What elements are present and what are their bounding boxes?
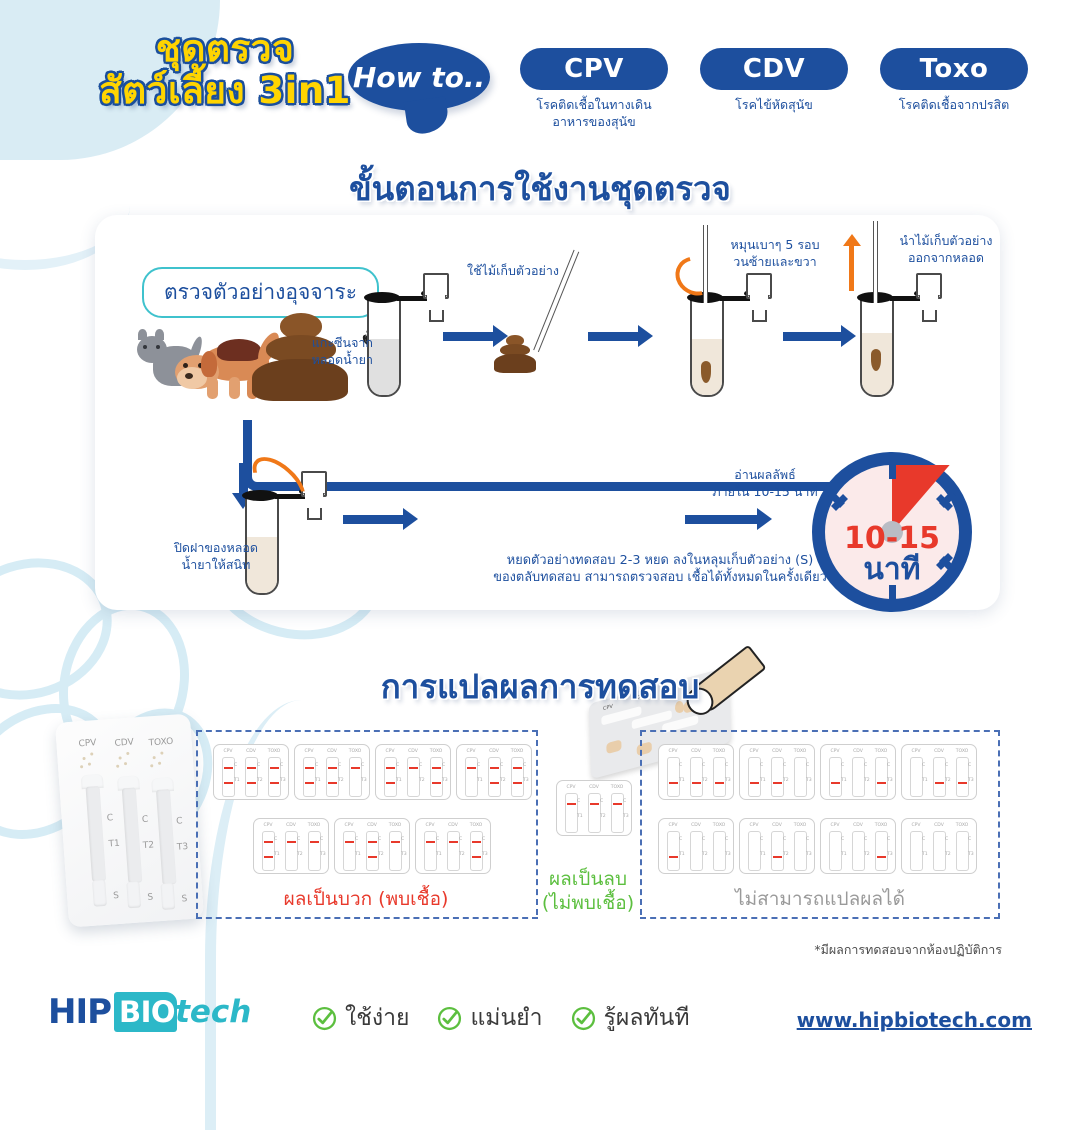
card-control-label: C — [679, 763, 682, 768]
card-control-label: C — [338, 763, 341, 768]
logo-hip-text: HIP — [48, 992, 111, 1032]
card-test-label: T1 — [396, 778, 402, 783]
logo-tech-text: tech — [175, 994, 251, 1030]
badge-cpv: CPV โรคติดเชื้อในทางเดิน อาหารของสุนัข — [520, 48, 668, 130]
feature-item: รู้ผลทันที — [571, 1000, 690, 1036]
card-channel-label: TOXO — [345, 749, 365, 754]
test-band — [715, 782, 724, 784]
test-band — [305, 782, 314, 784]
negative-label: ผลเป็นลบ (ไม่พบเชื้อ) — [540, 868, 636, 916]
control-band — [426, 841, 435, 843]
badge-toxo-desc: โรคติดเชื้อจากปรสิต — [880, 97, 1028, 114]
card-channel-label: CPV — [663, 823, 683, 828]
card-test-label: T2 — [257, 778, 263, 783]
card-channel-label: TOXO — [709, 749, 729, 754]
cassette-c-label: C — [176, 816, 183, 826]
card-test-label: T3 — [968, 778, 974, 783]
card-control-label: C — [725, 763, 728, 768]
cassette-label-cpv: CPV — [78, 738, 97, 749]
cassette-window-cdv — [122, 787, 143, 883]
badge-cpv-desc: โรคติดเชื้อในทางเดิน อาหารของสุนัข — [520, 97, 668, 130]
card-control-label: C — [679, 837, 682, 842]
card-control-label: C — [419, 763, 422, 768]
card-control-label: C — [280, 763, 283, 768]
control-band — [467, 767, 476, 769]
step7-label: อ่านผลลัพธ์ ภายใน 10-15 นาที — [695, 467, 835, 501]
card-control-label: C — [442, 763, 445, 768]
cassette-sample-well-cdv — [126, 881, 141, 908]
pull-up-arrow-icon — [849, 245, 854, 291]
flow-arrow-1 — [443, 332, 495, 341]
card-channel-label: CDV — [686, 823, 706, 828]
card-control-label: C — [523, 763, 526, 768]
card-channel-label: TOXO — [385, 823, 405, 828]
card-control-label: C — [806, 837, 809, 842]
cassette-c-label: C — [106, 813, 113, 823]
card-channel-label: CPV — [258, 823, 278, 828]
card-channel-label: CDV — [686, 749, 706, 754]
card-channel-label: CDV — [403, 749, 423, 754]
card-test-label: T1 — [922, 778, 928, 783]
cassette-t2-label: T2 — [142, 840, 154, 851]
card-control-label: C — [841, 763, 844, 768]
card-channel-label: TOXO — [871, 823, 891, 828]
control-band — [247, 767, 256, 769]
negative-label-line1: ผลเป็นลบ — [540, 868, 636, 892]
test-band — [877, 856, 886, 858]
control-band — [270, 767, 279, 769]
clock-minutes-unit: นาที — [812, 555, 972, 586]
control-band — [590, 803, 599, 805]
card-channel-label: TOXO — [952, 823, 972, 828]
badge-toxo: Toxo โรคติดเชื้อจากปรสิต — [880, 48, 1028, 130]
card-test-label: T1 — [234, 778, 240, 783]
title-line-2: สัตว์เลี้ยง 3in1 — [60, 70, 390, 112]
card-test-label: T1 — [577, 814, 583, 819]
swab-tip — [871, 349, 881, 371]
test-band — [750, 782, 759, 784]
card-channel-label: CPV — [420, 823, 440, 828]
badge-toxo-pill: Toxo — [880, 48, 1028, 90]
card-channel-label: CDV — [584, 785, 604, 790]
test-band — [773, 856, 782, 858]
invalid-result-card: CPVCT1CDVCT2TOXOCT3 — [820, 818, 896, 874]
card-control-label: C — [378, 837, 381, 842]
card-channel-label: TOXO — [790, 749, 810, 754]
card-test-label: T1 — [841, 852, 847, 857]
card-test-label: T2 — [945, 852, 951, 857]
test-band — [270, 782, 279, 784]
control-band — [409, 767, 418, 769]
step4-label: นำไม้เก็บตัวอย่าง ออกจากหลอด — [885, 233, 1007, 267]
card-control-label: C — [702, 763, 705, 768]
logo-bio-text: BIO — [114, 992, 177, 1032]
card-control-label: C — [841, 837, 844, 842]
test-band — [692, 782, 701, 784]
steps-heading: ขั้นตอนการใช้งานชุดตรวจ — [0, 162, 1080, 215]
control-band — [472, 841, 481, 843]
swab-tip — [701, 361, 711, 383]
card-test-label: T1 — [355, 852, 361, 857]
card-channel-label: CPV — [906, 749, 926, 754]
check-circle-icon — [571, 1006, 596, 1031]
card-channel-label: CDV — [443, 823, 463, 828]
card-channel-label: TOXO — [607, 785, 627, 790]
invalid-result-card: CPVCT1CDVCT2TOXOCT3 — [739, 744, 815, 800]
cassette-t3-label: T3 — [177, 842, 189, 853]
control-band — [391, 841, 400, 843]
tube-nozzle — [918, 295, 940, 311]
card-channel-label: CPV — [744, 823, 764, 828]
invalid-result-card: CPVCT1CDVCT2TOXOCT3 — [739, 818, 815, 874]
test-band — [773, 782, 782, 784]
control-band — [224, 767, 233, 769]
tube-nozzle — [425, 295, 447, 311]
stool-illustration-small — [493, 335, 537, 375]
card-test-label: T2 — [864, 852, 870, 857]
card-test-label: T1 — [841, 778, 847, 783]
negative-result-card: CPVCT1CDVCT2TOXOCT3 — [556, 780, 632, 836]
card-channel-label: CDV — [362, 823, 382, 828]
card-test-label: T1 — [922, 852, 928, 857]
test-band — [669, 856, 678, 858]
card-channel-label: CDV — [767, 823, 787, 828]
card-control-label: C — [783, 837, 786, 842]
card-control-label: C — [355, 837, 358, 842]
flow-arrow-3 — [783, 332, 843, 341]
card-control-label: C — [234, 763, 237, 768]
positive-label: ผลเป็นบวก (พบเชื้อ) — [226, 884, 506, 914]
step3-label: หมุนเบาๆ 5 รอบ วนซ้ายและขวา — [715, 237, 835, 271]
card-test-label: T3 — [725, 852, 731, 857]
positive-result-card: CPVCT1CDVCT2TOXOCT3 — [253, 818, 329, 874]
card-control-label: C — [864, 763, 867, 768]
card-test-label: T2 — [945, 778, 951, 783]
card-test-label: T1 — [274, 852, 280, 857]
card-test-label: T1 — [315, 778, 321, 783]
control-band — [310, 841, 319, 843]
test-band — [935, 782, 944, 784]
card-channel-label: TOXO — [709, 823, 729, 828]
card-test-label: T2 — [783, 778, 789, 783]
card-test-label: T2 — [783, 852, 789, 857]
card-channel-label: CPV — [825, 749, 845, 754]
tube-body — [690, 297, 724, 397]
card-test-label: T3 — [280, 778, 286, 783]
card-control-label: C — [922, 763, 925, 768]
card-channel-label: CPV — [906, 823, 926, 828]
card-test-label: T2 — [500, 778, 506, 783]
card-channel-label: CPV — [218, 749, 238, 754]
positive-result-card: CPVCT1CDVCT2TOXOCT3 — [415, 818, 491, 874]
clock-tick — [889, 585, 896, 601]
control-band — [432, 767, 441, 769]
card-control-label: C — [401, 837, 404, 842]
positive-result-card: CPVCT1CDVCT2TOXOCT3 — [456, 744, 532, 800]
step2-label: ใช้ไม้เก็บตัวอย่าง — [458, 263, 568, 280]
page-title: ชุดตรวจ สัตว์เลี้ยง 3in1 — [60, 28, 390, 112]
card-control-label: C — [623, 799, 626, 804]
test-band — [224, 782, 233, 784]
feature-list: ใช้ง่าย แม่นยำ รู้ผลทันที — [312, 1000, 690, 1036]
test-band — [264, 856, 273, 858]
swab-stick-step4 — [873, 221, 878, 303]
tube-collar — [364, 292, 400, 303]
card-test-label: T2 — [864, 778, 870, 783]
invalid-result-card: CPVCT1CDVCT2TOXOCT3 — [901, 818, 977, 874]
badge-cdv: CDV โรคไข้หัดสุนัข — [700, 48, 848, 130]
invalid-result-card: CPVCT1CDVCT2TOXOCT3 — [658, 818, 734, 874]
card-channel-label: CPV — [299, 749, 319, 754]
card-test-label: T3 — [320, 852, 326, 857]
card-control-label: C — [482, 837, 485, 842]
card-control-label: C — [396, 763, 399, 768]
invalid-result-card: CPVCT1CDVCT2TOXOCT3 — [658, 744, 734, 800]
control-band — [351, 767, 360, 769]
brand-logo: HIP BIO tech — [48, 992, 251, 1032]
card-control-label: C — [760, 763, 763, 768]
card-test-label: T3 — [887, 778, 893, 783]
negative-label-line2: (ไม่พบเชื้อ) — [540, 892, 636, 916]
region-divider — [536, 730, 538, 915]
card-channel-label: CDV — [484, 749, 504, 754]
card-channel-label: CDV — [241, 749, 261, 754]
card-channel-label: CPV — [380, 749, 400, 754]
card-test-label: T3 — [887, 852, 893, 857]
card-channel-label: CPV — [339, 823, 359, 828]
invalid-label: ไม่สามารถแปลผลได้ — [680, 884, 960, 914]
cassette-s-label: S — [147, 893, 153, 903]
card-test-label: T3 — [806, 778, 812, 783]
card-channel-label: CDV — [767, 749, 787, 754]
card-control-label: C — [315, 763, 318, 768]
card-channel-label: TOXO — [790, 823, 810, 828]
region-divider — [640, 730, 642, 915]
tube-nozzle-tip — [922, 310, 937, 322]
positive-result-card: CPVCT1CDVCT2TOXOCT3 — [294, 744, 370, 800]
control-band — [368, 841, 377, 843]
interpretation-heading: การแปลผลการทดสอบ — [0, 660, 1080, 713]
card-control-label: C — [577, 799, 580, 804]
cassette-s-label: S — [113, 891, 119, 901]
cassette-sample-well — [606, 739, 621, 754]
control-band — [386, 767, 395, 769]
card-test-label: T1 — [436, 852, 442, 857]
cassette-sample-well-cpv — [92, 880, 107, 907]
card-control-label: C — [887, 763, 890, 768]
test-band — [247, 782, 256, 784]
positive-result-card: CPVCT1CDVCT2TOXOCT3 — [213, 744, 289, 800]
clock-tick — [889, 463, 896, 479]
card-control-label: C — [945, 837, 948, 842]
card-test-label: T1 — [760, 778, 766, 783]
card-control-label: C — [257, 763, 260, 768]
badge-cpv-code: CPV — [564, 54, 624, 84]
badge-cdv-code: CDV — [743, 54, 805, 84]
feature-label: แม่นยำ — [470, 1000, 542, 1036]
test-band — [328, 782, 337, 784]
check-circle-icon — [312, 1006, 337, 1031]
control-band — [613, 803, 622, 805]
cassette-label-cdv: CDV — [114, 738, 134, 749]
card-test-label: T1 — [679, 852, 685, 857]
card-channel-label: CPV — [561, 785, 581, 790]
card-test-label: T3 — [806, 852, 812, 857]
card-test-label: T3 — [401, 852, 407, 857]
how-to-label: How to.. — [353, 61, 485, 94]
test-band — [472, 856, 481, 858]
cassette-window-toxo — [156, 789, 177, 885]
test-band — [490, 782, 499, 784]
positive-result-card: CPVCT1CDVCT2TOXOCT3 — [334, 818, 410, 874]
card-control-label: C — [968, 763, 971, 768]
cassette-reference: CPV CDV TOXO C C C T1 T2 T3 S S S — [55, 714, 204, 928]
card-control-label: C — [274, 837, 277, 842]
step5-label: ปิดฝาของหลอด น้ำยาให้สนิท — [173, 540, 259, 574]
card-test-label: T2 — [702, 852, 708, 857]
card-control-label: C — [760, 837, 763, 842]
card-channel-label: CDV — [929, 823, 949, 828]
tube-nozzle — [748, 295, 770, 311]
cassette-window-cpv — [86, 786, 107, 882]
card-test-label: T3 — [623, 814, 629, 819]
badge-cdv-desc: โรคไข้หัดสุนัข — [700, 97, 848, 114]
control-band — [449, 841, 458, 843]
cassette-c-label: C — [142, 815, 149, 825]
card-control-label: C — [500, 763, 503, 768]
tube-nozzle-tip — [429, 310, 444, 322]
positive-result-card: CPVCT1CDVCT2TOXOCT3 — [375, 744, 451, 800]
control-band — [328, 767, 337, 769]
card-channel-label: CDV — [848, 823, 868, 828]
badge-cdv-pill: CDV — [700, 48, 848, 90]
card-test-label: T2 — [297, 852, 303, 857]
card-control-label: C — [783, 763, 786, 768]
website-link[interactable]: www.hipbiotech.com — [797, 1008, 1032, 1032]
badge-cpv-pill: CPV — [520, 48, 668, 90]
card-control-label: C — [945, 763, 948, 768]
card-channel-label: CDV — [281, 823, 301, 828]
card-test-label: T1 — [679, 778, 685, 783]
test-band — [513, 782, 522, 784]
card-test-label: T1 — [760, 852, 766, 857]
feature-label: ใช้ง่าย — [345, 1000, 409, 1036]
card-control-label: C — [297, 837, 300, 842]
card-test-label: T3 — [523, 778, 529, 783]
sample-type-chip: ตรวจตัวอย่างอุจจาระ — [142, 267, 379, 318]
card-channel-label: TOXO — [264, 749, 284, 754]
card-channel-label: CDV — [322, 749, 342, 754]
feature-item: ใช้ง่าย — [312, 1000, 409, 1036]
tube-body — [860, 297, 894, 397]
clock-minutes-value: 10-15 — [812, 524, 972, 555]
card-channel-label: CPV — [825, 823, 845, 828]
cassette-sample-well-toxo — [161, 883, 176, 910]
card-control-label: C — [887, 837, 890, 842]
flow-arrow-4 — [343, 515, 405, 524]
cassette-t1-label: T1 — [108, 839, 120, 850]
lab-footnote: *มีผลการทดสอบจากห้องปฏิบัติการ — [814, 940, 1002, 960]
card-control-label: C — [477, 763, 480, 768]
card-control-label: C — [436, 837, 439, 842]
card-channel-label: CPV — [744, 749, 764, 754]
flow-arrow-5 — [685, 515, 759, 524]
card-test-label: T2 — [459, 852, 465, 857]
card-test-label: T2 — [378, 852, 384, 857]
card-channel-label: TOXO — [304, 823, 324, 828]
test-band — [432, 782, 441, 784]
card-control-label: C — [320, 837, 323, 842]
invalid-result-card: CPVCT1CDVCT2TOXOCT3 — [901, 744, 977, 800]
title-line-1: ชุดตรวจ — [60, 28, 390, 70]
step6-label: หยดตัวอย่างทดสอบ 2-3 หยด ลงในหลุมเก็บตัว… — [450, 552, 870, 587]
feature-item: แม่นยำ — [437, 1000, 542, 1036]
test-band — [669, 782, 678, 784]
feature-label: รู้ผลทันที — [604, 1000, 690, 1036]
control-band — [490, 767, 499, 769]
card-channel-label: CPV — [461, 749, 481, 754]
control-band — [513, 767, 522, 769]
test-band — [958, 782, 967, 784]
card-control-label: C — [864, 837, 867, 842]
card-control-label: C — [922, 837, 925, 842]
test-band — [386, 782, 395, 784]
step1-label: แกะซีนจาก หลอดน้ำยา — [295, 335, 373, 369]
card-control-label: C — [600, 799, 603, 804]
card-channel-label: CPV — [663, 749, 683, 754]
card-test-label: T2 — [702, 778, 708, 783]
badge-toxo-code: Toxo — [920, 54, 989, 84]
card-test-label: T3 — [725, 778, 731, 783]
control-band — [305, 767, 314, 769]
card-control-label: C — [806, 763, 809, 768]
card-channel-label: TOXO — [952, 749, 972, 754]
card-test-label: T3 — [442, 778, 448, 783]
flow-arrow-2 — [588, 332, 640, 341]
card-channel-label: CDV — [848, 749, 868, 754]
card-control-label: C — [702, 837, 705, 842]
card-channel-label: CDV — [929, 749, 949, 754]
card-channel-label: TOXO — [507, 749, 527, 754]
tube-nozzle — [303, 493, 325, 509]
check-circle-icon — [437, 1006, 462, 1031]
card-test-label: T3 — [482, 852, 488, 857]
test-band — [831, 782, 840, 784]
flow-arrow-down — [239, 463, 248, 495]
card-test-label: T2 — [419, 778, 425, 783]
card-test-label: T2 — [338, 778, 344, 783]
card-test-label: T3 — [968, 852, 974, 857]
card-control-label: C — [725, 837, 728, 842]
card-control-label: C — [459, 837, 462, 842]
cassette-label-toxo: TOXO — [148, 737, 173, 749]
card-control-label: C — [361, 763, 364, 768]
tube-nozzle-tip — [307, 508, 322, 520]
cassette-s-label: S — [181, 894, 187, 904]
card-test-label: T1 — [477, 778, 483, 783]
card-test-label: T3 — [361, 778, 367, 783]
test-band — [368, 856, 377, 858]
card-channel-label: TOXO — [466, 823, 486, 828]
invalid-result-card: CPVCT1CDVCT2TOXOCT3 — [820, 744, 896, 800]
disease-badge-group: CPV โรคติดเชื้อในทางเดิน อาหารของสุนัข C… — [520, 48, 1028, 130]
clock-readout: 10-15 นาที — [812, 524, 972, 585]
card-channel-label: TOXO — [871, 749, 891, 754]
control-band — [287, 841, 296, 843]
control-band — [264, 841, 273, 843]
control-band — [567, 803, 576, 805]
card-test-label: T2 — [600, 814, 606, 819]
